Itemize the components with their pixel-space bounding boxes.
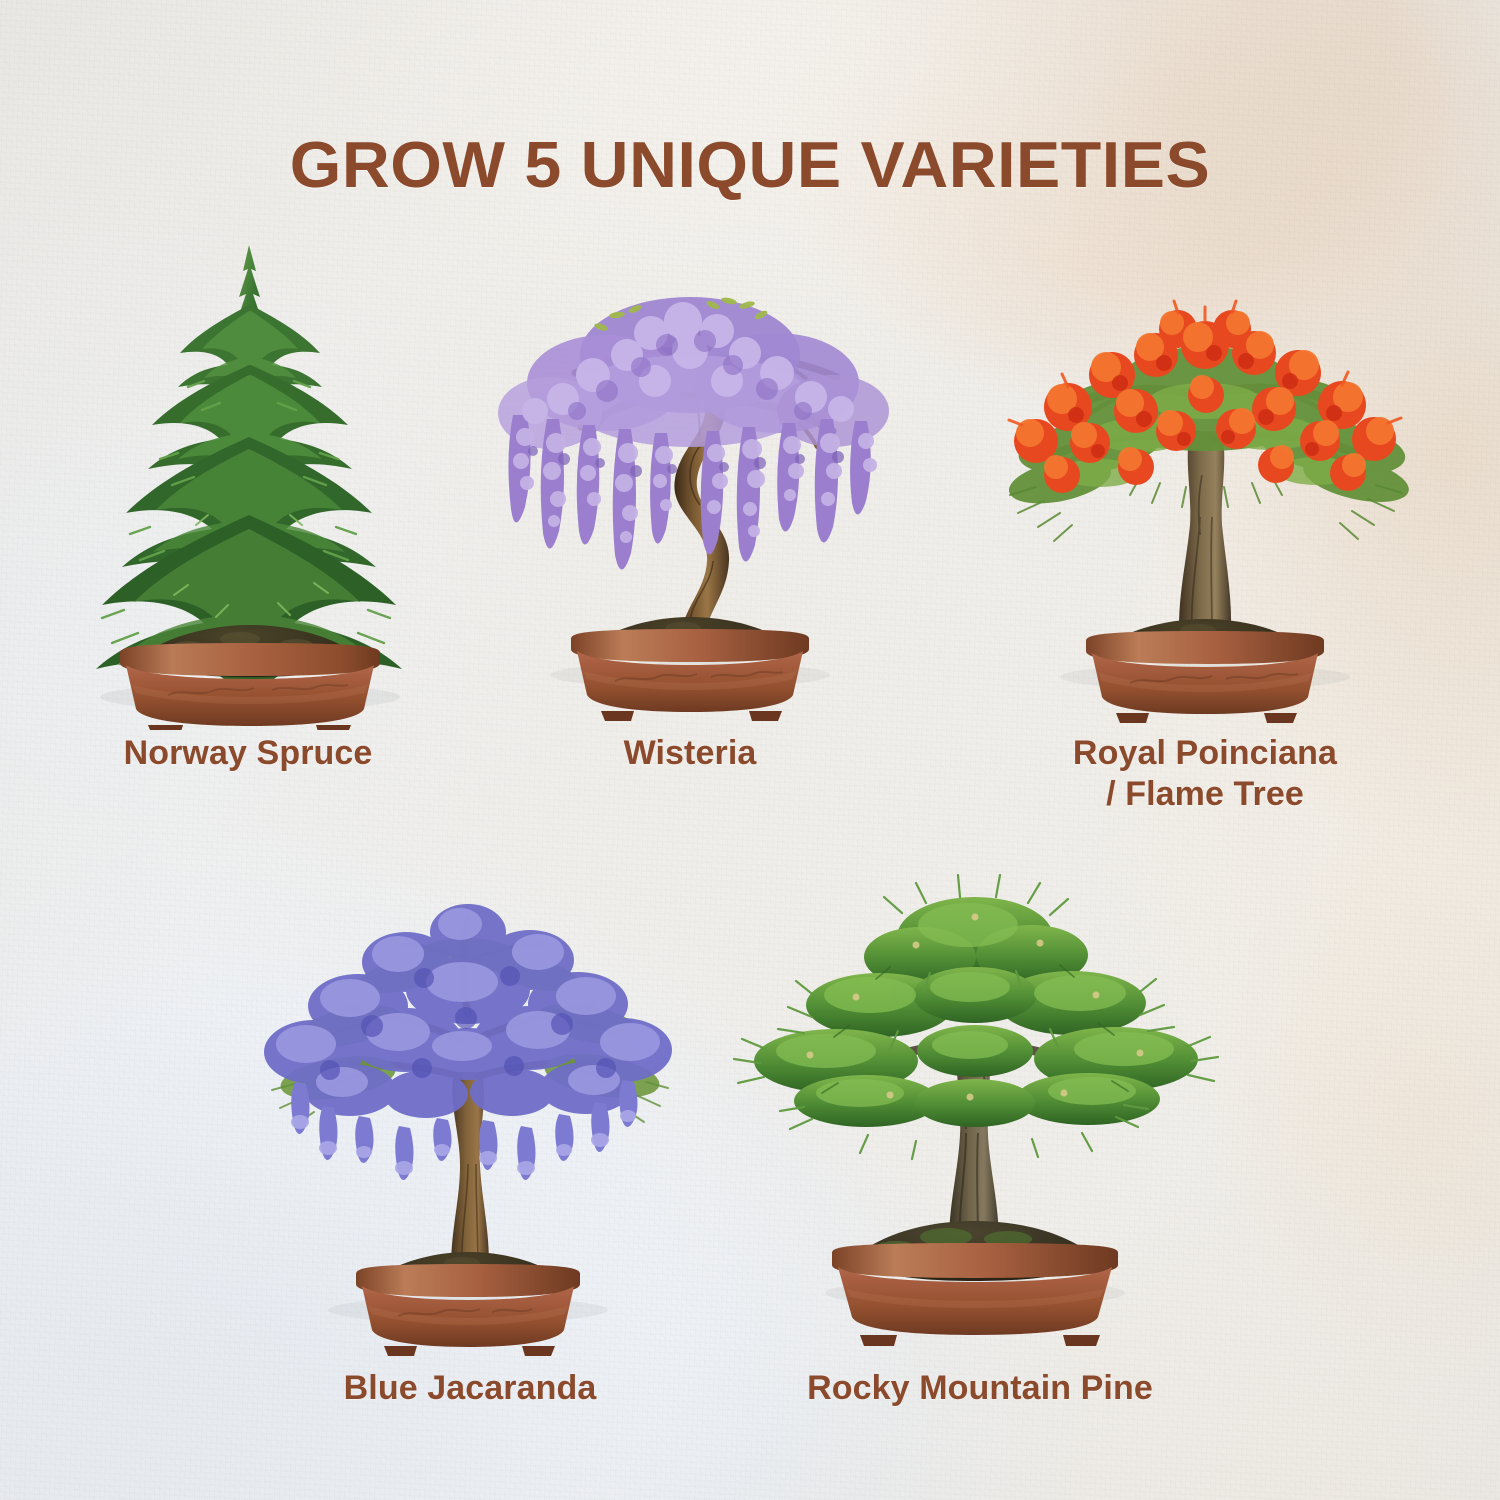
label-line: / Flame Tree — [940, 774, 1470, 815]
label-line: Wisteria — [455, 733, 925, 774]
bonsai-pot — [1086, 631, 1324, 723]
variety-label-blue-jacaranda: Blue Jacaranda — [210, 1368, 730, 1409]
variety-label-wisteria: Wisteria — [455, 733, 925, 774]
label-line: Royal Poinciana — [940, 733, 1470, 774]
label-line: Blue Jacaranda — [210, 1368, 730, 1409]
variety-label-rocky-mountain-pine: Rocky Mountain Pine — [720, 1368, 1240, 1409]
blue-jacaranda-illustration — [210, 840, 730, 1365]
variety-label-norway-spruce: Norway Spruce — [28, 733, 468, 774]
bonsai-pot — [571, 629, 809, 721]
norway-spruce-illustration — [28, 185, 468, 730]
royal-poinciana-illustration — [940, 225, 1470, 730]
infographic-canvas: GROW 5 UNIQUE VARIETIES — [0, 0, 1500, 1500]
bonsai-pot — [356, 1264, 580, 1356]
bonsai-pot — [832, 1243, 1118, 1346]
variety-label-royal-poinciana: Royal Poinciana / Flame Tree — [940, 733, 1470, 816]
label-line: Norway Spruce — [28, 733, 468, 774]
rocky-mountain-pine-illustration — [720, 845, 1240, 1365]
label-line: Rocky Mountain Pine — [720, 1368, 1240, 1409]
bonsai-pot — [120, 643, 380, 730]
wisteria-illustration — [455, 205, 925, 730]
